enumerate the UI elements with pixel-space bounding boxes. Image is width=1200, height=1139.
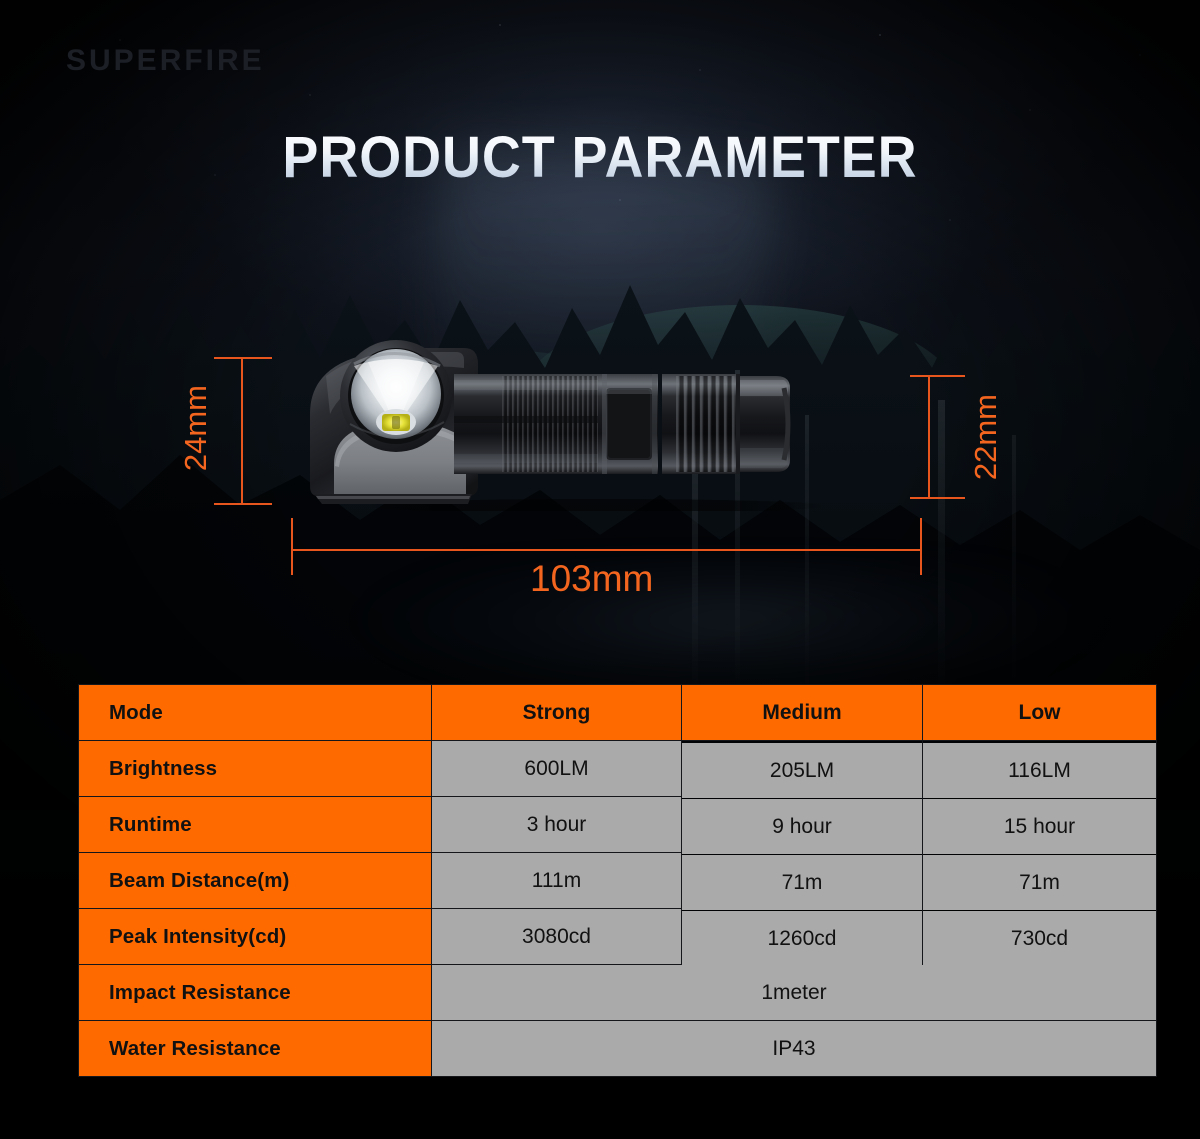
row-label-peak-intensity: Peak Intensity(cd) <box>79 909 432 965</box>
page-title: PRODUCT PARAMETER <box>42 124 1158 191</box>
cell-beam-distance-medium: 71m <box>682 855 923 911</box>
cell-impact-resistance-value: 1meter <box>432 965 1157 1021</box>
row-label-brightness: Brightness <box>79 741 432 797</box>
brand-watermark: SUPERFIRE <box>66 44 265 78</box>
cell-beam-distance-low: 71m <box>923 855 1157 911</box>
row-label-water-resistance: Water Resistance <box>79 1021 432 1077</box>
cell-runtime-low: 15 hour <box>923 799 1157 855</box>
row-label-mode: Mode <box>79 685 432 741</box>
dimension-label-height-right: 22mm <box>968 394 1004 480</box>
cell-water-resistance-value: IP43 <box>432 1021 1157 1077</box>
dim-line-right <box>928 375 930 498</box>
row-label-runtime: Runtime <box>79 797 432 853</box>
cell-brightness-strong: 600LM <box>432 741 682 797</box>
table-row-impact-resistance: Impact Resistance 1meter <box>79 965 1157 1021</box>
cell-runtime-strong: 3 hour <box>432 797 682 853</box>
dim-line-length <box>291 549 921 551</box>
dim-cap-right-top <box>910 375 965 377</box>
cell-mode-strong: Strong <box>432 685 682 741</box>
cell-brightness-medium: 205LM <box>682 743 923 799</box>
cell-runtime-medium: 9 hour <box>682 799 923 855</box>
flashlight-product-image <box>306 336 906 511</box>
cell-brightness-low: 116LM <box>923 743 1157 799</box>
dimension-label-length: 103mm <box>530 558 653 600</box>
dim-cap-left-bottom <box>214 503 272 505</box>
cell-mode-low: Low <box>923 685 1157 741</box>
cell-peak-intensity-low: 730cd <box>923 911 1157 967</box>
table-row-water-resistance: Water Resistance IP43 <box>79 1021 1157 1077</box>
dim-cap-left-top <box>214 357 272 359</box>
cell-peak-intensity-medium: 1260cd <box>682 911 923 967</box>
dim-cap-length-right <box>920 518 922 575</box>
dim-line-left <box>241 357 243 504</box>
row-label-beam-distance: Beam Distance(m) <box>79 853 432 909</box>
cell-beam-distance-strong: 111m <box>432 853 682 909</box>
cell-peak-intensity-strong: 3080cd <box>432 909 682 965</box>
table-row-mode: Mode Strong Medium Low <box>79 685 1157 741</box>
specification-table: Mode Strong Medium Low Brightness 600LM … <box>78 684 1157 1077</box>
dimension-label-height-left: 24mm <box>178 385 214 471</box>
row-label-impact-resistance: Impact Resistance <box>79 965 432 1021</box>
table-row-peak-intensity: Peak Intensity(cd) 3080cd 1260cd 730cd <box>79 909 1157 965</box>
dim-cap-length-left <box>291 518 293 575</box>
table-row-brightness: Brightness 600LM 205LM 116LM <box>79 741 1157 797</box>
product-parameter-page: SUPERFIRE PRODUCT PARAMETER <box>0 0 1200 1139</box>
cell-mode-medium: Medium <box>682 685 923 741</box>
table-row-beam-distance: Beam Distance(m) 111m 71m 71m <box>79 853 1157 909</box>
dim-cap-right-bottom <box>910 497 965 499</box>
table-row-runtime: Runtime 3 hour 9 hour 15 hour <box>79 797 1157 853</box>
